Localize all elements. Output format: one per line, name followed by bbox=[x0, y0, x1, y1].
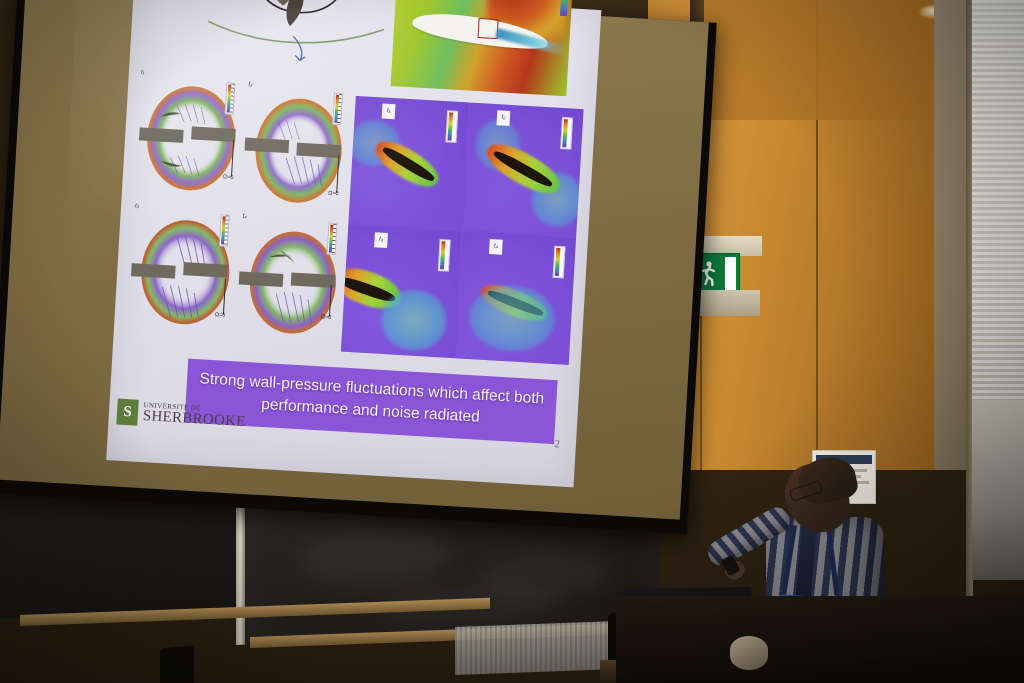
panel-label: t₁ bbox=[382, 104, 396, 120]
colorbar bbox=[445, 110, 458, 143]
panel-label: t₂ bbox=[497, 111, 511, 127]
panel-label: t₁ bbox=[141, 69, 145, 75]
panel-label: t₄ bbox=[489, 239, 503, 255]
omega-annotation: Ω=0 bbox=[223, 174, 234, 181]
pressure-panel: t₃ bbox=[341, 225, 461, 358]
pressure-panel: t₁ bbox=[348, 96, 468, 229]
pressure-panel: t₂ bbox=[463, 103, 583, 236]
chair-back bbox=[160, 645, 194, 683]
logo-mark: S bbox=[116, 399, 138, 426]
panel-label: t₃ bbox=[135, 203, 139, 209]
colorbar bbox=[438, 239, 451, 272]
window bbox=[972, 0, 1024, 400]
turbulence-panel: t₂ bbox=[241, 82, 357, 222]
colorbar bbox=[327, 223, 338, 255]
podium-desk bbox=[616, 596, 1024, 683]
turbulence-panel: t₁ bbox=[133, 69, 249, 209]
projection-screen: t₁ bbox=[0, 0, 717, 534]
colorbar bbox=[560, 117, 573, 150]
airfoil-pressure-field bbox=[391, 0, 574, 96]
omega-annotation: Ω=0 bbox=[215, 312, 226, 319]
presenter-hair bbox=[794, 452, 860, 507]
wall-pressure-snapshots: t₁ t₂ t₃ bbox=[341, 96, 584, 365]
exit-door-glyph bbox=[725, 257, 736, 291]
wall-ledge bbox=[700, 290, 760, 316]
omega-annotation: Ω=0 bbox=[328, 190, 339, 197]
pressure-panel: t₄ bbox=[456, 231, 576, 364]
projected-slide: t₁ bbox=[106, 0, 601, 487]
window-lower-pane bbox=[972, 400, 1024, 580]
panel-label: t₄ bbox=[243, 214, 247, 220]
logo-line-2: SHERBROOKE bbox=[142, 409, 246, 430]
panel-label: t₂ bbox=[248, 82, 252, 88]
camera-lens bbox=[730, 636, 768, 670]
screenshot-root: t₁ bbox=[0, 0, 1024, 683]
colorbar bbox=[332, 93, 343, 125]
slide-number: 2 bbox=[554, 438, 560, 450]
omega-annotation: Ω=0 bbox=[321, 314, 332, 321]
turbulence-disk-panels: t₁ bbox=[125, 69, 356, 349]
colorbar bbox=[225, 82, 236, 114]
wood-wall-upper bbox=[700, 0, 940, 120]
colorbar bbox=[219, 214, 230, 246]
panel-label: t₃ bbox=[374, 233, 388, 249]
window-blinds bbox=[972, 0, 1024, 400]
turbulence-panel: t₄ bbox=[235, 214, 351, 354]
turbulence-panel: t₃ bbox=[127, 203, 243, 343]
colorbar bbox=[552, 246, 565, 279]
lecture-hall-room: t₁ bbox=[0, 0, 1024, 683]
blackboard-divider bbox=[236, 485, 245, 645]
